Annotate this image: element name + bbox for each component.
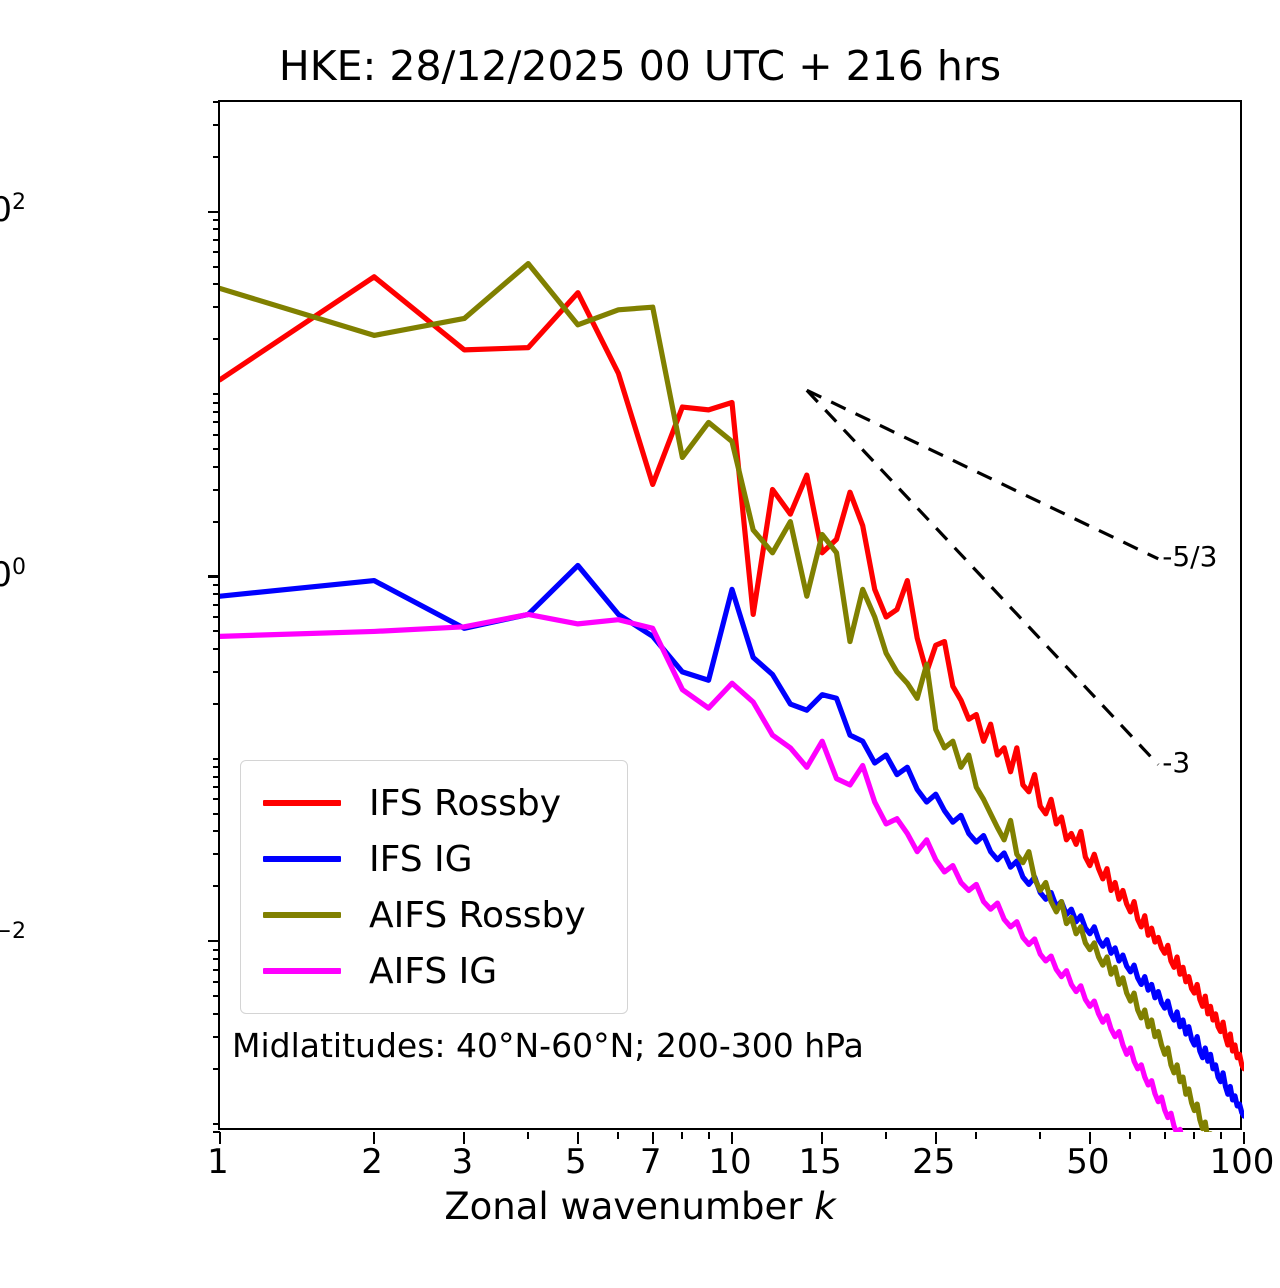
y-minor-tick <box>213 798 220 800</box>
y-minor-tick <box>213 703 220 705</box>
y-minor-tick <box>213 283 220 285</box>
x-tick-label-3: 3 <box>451 1142 473 1182</box>
y-minor-tick <box>213 813 220 815</box>
y-minor-tick <box>213 949 220 951</box>
legend: IFS RossbyIFS IGAIFS RossbyAIFS IG <box>240 760 628 1014</box>
x-tick-label-15: 15 <box>799 1142 842 1182</box>
y-minor-tick <box>213 211 220 213</box>
y-minor-tick <box>213 786 220 788</box>
legend-item-ifs-rossby[interactable]: IFS Rossby <box>241 775 627 831</box>
x-minor-tick <box>708 1132 710 1139</box>
x-axis-title-symbol: k <box>814 1185 835 1228</box>
y-minor-tick <box>213 448 220 450</box>
y-minor-tick <box>213 393 220 395</box>
y-minor-tick <box>213 101 220 103</box>
x-tick-label-100: 100 <box>1210 1142 1275 1182</box>
y-minor-tick <box>213 411 220 413</box>
x-tick-label-50: 50 <box>1066 1142 1109 1182</box>
x-minor-tick <box>1220 1132 1222 1139</box>
y-minor-tick <box>213 776 220 778</box>
legend-label: AIFS IG <box>369 951 497 992</box>
x-tick-label-2: 2 <box>361 1142 383 1182</box>
y-tick-label: 100 <box>0 554 26 594</box>
y-minor-tick <box>213 402 220 404</box>
x-minor-tick <box>1129 1132 1131 1139</box>
y-minor-tick <box>213 648 220 650</box>
reference-slope--5-3 <box>807 390 1158 559</box>
legend-swatch-icon <box>263 856 341 862</box>
legend-label: AIFS Rossby <box>369 895 586 936</box>
x-tick-label-5: 5 <box>565 1142 587 1182</box>
y-tick-label: 10−2 <box>0 919 26 959</box>
y-minor-tick <box>213 124 220 126</box>
y-tick-label: 102 <box>0 190 26 230</box>
x-minor-tick <box>219 1132 221 1139</box>
x-minor-tick <box>975 1132 977 1139</box>
y-minor-tick <box>213 995 220 997</box>
y-minor-tick <box>213 981 220 983</box>
y-minor-tick <box>213 228 220 230</box>
y-minor-tick <box>213 1068 220 1070</box>
legend-label: IFS IG <box>369 839 473 880</box>
y-minor-tick <box>213 593 220 595</box>
y-minor-tick <box>213 219 220 221</box>
legend-item-aifs-rossby[interactable]: AIFS Rossby <box>241 887 627 943</box>
y-minor-tick <box>213 266 220 268</box>
legend-label: IFS Rossby <box>369 783 561 824</box>
y-minor-tick <box>213 489 220 491</box>
y-minor-tick <box>213 434 220 436</box>
x-minor-tick <box>373 1132 375 1139</box>
x-tick-label-1: 1 <box>207 1142 229 1182</box>
x-axis-title: Zonal wavenumber k <box>0 1185 1280 1228</box>
y-minor-tick <box>213 521 220 523</box>
x-minor-tick <box>1164 1132 1166 1139</box>
y-minor-tick <box>213 251 220 253</box>
y-minor-tick <box>213 1131 220 1133</box>
y-minor-tick <box>213 576 220 578</box>
slope-label--3: -3 <box>1162 746 1190 779</box>
legend-swatch-icon <box>263 968 341 974</box>
y-minor-tick <box>213 958 220 960</box>
x-minor-tick <box>1193 1132 1195 1139</box>
chart-figure: HKE: 28/12/2025 00 UTC + 216 hrs 1235710… <box>0 0 1280 1288</box>
y-minor-tick <box>213 156 220 158</box>
legend-item-ifs-ig[interactable]: IFS IG <box>241 831 627 887</box>
x-tick-label-7: 7 <box>640 1142 662 1182</box>
y-minor-tick <box>213 466 220 468</box>
reference-slope--3 <box>807 390 1158 764</box>
x-minor-tick <box>1089 1132 1091 1139</box>
x-minor-tick <box>681 1132 683 1139</box>
x-minor-tick <box>885 1132 887 1139</box>
y-minor-tick <box>213 338 220 340</box>
x-minor-tick <box>652 1132 654 1139</box>
legend-item-aifs-ig[interactable]: AIFS IG <box>241 943 627 999</box>
legend-swatch-icon <box>263 800 341 806</box>
x-minor-tick <box>617 1132 619 1139</box>
page-title: HKE: 28/12/2025 00 UTC + 216 hrs <box>0 42 1280 90</box>
y-minor-tick <box>213 969 220 971</box>
y-minor-tick <box>213 885 220 887</box>
legend-swatch-icon <box>263 912 341 918</box>
x-tick-label-25: 25 <box>912 1142 955 1182</box>
y-minor-tick <box>213 584 220 586</box>
y-minor-tick <box>213 239 220 241</box>
y-minor-tick <box>213 766 220 768</box>
y-minor-tick <box>213 616 220 618</box>
y-minor-tick <box>213 940 220 942</box>
y-minor-tick <box>213 1013 220 1015</box>
x-minor-tick <box>1243 1132 1245 1139</box>
x-axis-title-main: Zonal wavenumber <box>444 1185 814 1228</box>
reference-slope-layer <box>807 390 1158 764</box>
x-minor-tick <box>527 1132 529 1139</box>
y-minor-tick <box>213 630 220 632</box>
y-minor-tick <box>213 306 220 308</box>
y-minor-tick <box>213 671 220 673</box>
y-minor-tick <box>213 604 220 606</box>
x-minor-tick <box>577 1132 579 1139</box>
y-minor-tick <box>213 1123 220 1125</box>
x-minor-tick <box>1039 1132 1041 1139</box>
x-minor-tick <box>463 1132 465 1139</box>
x-tick-label-10: 10 <box>708 1142 751 1182</box>
y-minor-tick <box>213 830 220 832</box>
slope-label--5-3: -5/3 <box>1162 540 1217 573</box>
y-minor-tick <box>213 421 220 423</box>
y-minor-tick <box>213 758 220 760</box>
y-minor-tick <box>213 1036 220 1038</box>
region-annotation: Midlatitudes: 40°N-60°N; 200-300 hPa <box>232 1026 864 1065</box>
y-minor-tick <box>213 853 220 855</box>
